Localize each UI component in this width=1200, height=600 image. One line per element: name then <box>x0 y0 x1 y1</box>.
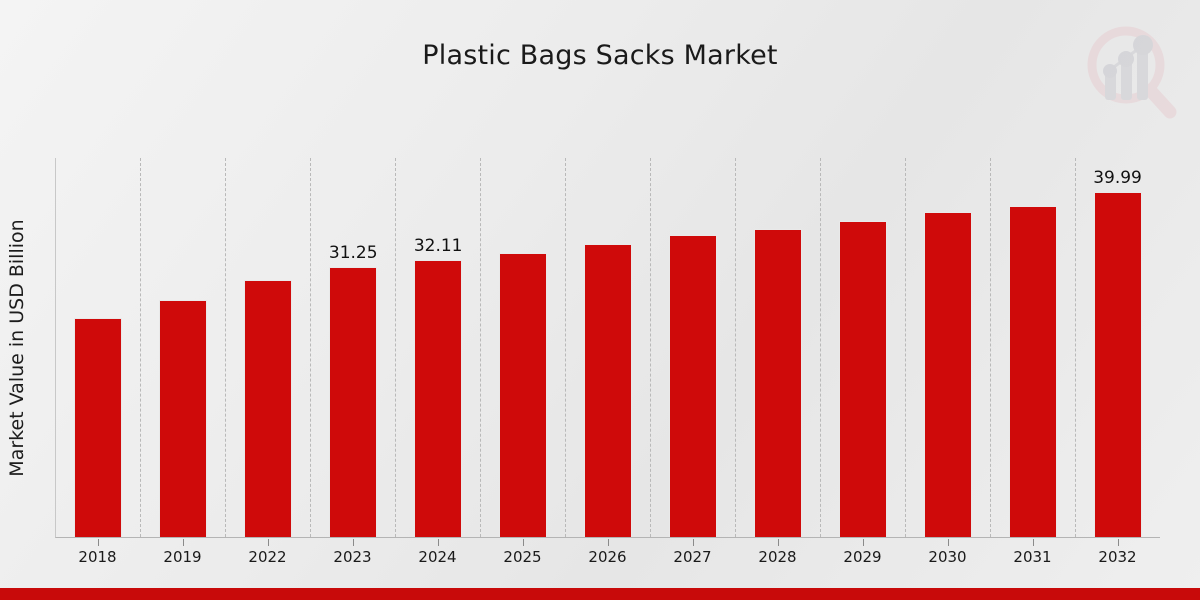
bar-2028[interactable] <box>754 229 802 537</box>
bar-2030[interactable] <box>924 212 972 537</box>
bar-2026[interactable] <box>584 244 632 537</box>
x-axis-slot: 2026 <box>565 539 650 573</box>
bar-slot <box>566 158 651 537</box>
bar-value-label: 39.99 <box>1075 168 1160 188</box>
x-axis-slot: 2019 <box>140 539 225 573</box>
x-axis-slot: 2032 <box>1075 539 1160 573</box>
x-axis-tick <box>353 539 354 546</box>
x-axis-tick <box>438 539 439 546</box>
x-axis-tick <box>1118 539 1119 546</box>
bar-2023[interactable] <box>329 267 377 537</box>
x-axis-slot: 2028 <box>735 539 820 573</box>
x-axis: 2018201920222023202420252026202720282029… <box>55 539 1160 573</box>
x-axis-slot: 2031 <box>990 539 1075 573</box>
x-axis-slot: 2025 <box>480 539 565 573</box>
x-axis-tick-label: 2025 <box>480 548 565 566</box>
plot-area: 31.2532.1139.99 <box>55 158 1160 538</box>
x-axis-tick-label: 2026 <box>565 548 650 566</box>
x-axis-tick <box>863 539 864 546</box>
bar-2031[interactable] <box>1009 206 1057 537</box>
chart-page: Plastic Bags Sacks Market Market Valu <box>0 0 1200 600</box>
bar-slot <box>56 158 141 537</box>
bar-slot <box>226 158 311 537</box>
x-axis-tick <box>183 539 184 546</box>
x-axis-tick-label: 2024 <box>395 548 480 566</box>
x-axis-tick-label: 2019 <box>140 548 225 566</box>
x-axis-tick <box>778 539 779 546</box>
bar-slot <box>141 158 226 537</box>
x-axis-tick <box>268 539 269 546</box>
bar-slot: 32.11 <box>396 158 481 537</box>
x-axis-tick-label: 2027 <box>650 548 735 566</box>
x-axis-slot: 2022 <box>225 539 310 573</box>
bar-2024[interactable] <box>414 260 462 537</box>
bar-slot <box>481 158 566 537</box>
page-title: Plastic Bags Sacks Market <box>0 40 1200 71</box>
x-axis-tick-label: 2022 <box>225 548 310 566</box>
bar-series: 31.2532.1139.99 <box>56 158 1160 537</box>
bar-slot <box>990 158 1075 537</box>
footer-band <box>0 588 1200 600</box>
bar-slot: 39.99 <box>1075 158 1160 537</box>
bar-slot <box>735 158 820 537</box>
x-axis-slot: 2024 <box>395 539 480 573</box>
x-axis-tick <box>948 539 949 546</box>
y-axis-label: Market Value in USD Billion <box>6 158 38 538</box>
x-axis-slot: 2030 <box>905 539 990 573</box>
bar-value-label: 31.25 <box>311 243 396 263</box>
bar-slot: 31.25 <box>311 158 396 537</box>
x-axis-tick-label: 2032 <box>1075 548 1160 566</box>
x-axis-slot: 2027 <box>650 539 735 573</box>
x-axis-tick <box>608 539 609 546</box>
y-axis-title-wrapper: Market Value in USD Billion <box>0 172 34 552</box>
x-axis-tick-label: 2029 <box>820 548 905 566</box>
x-axis-tick-label: 2018 <box>55 548 140 566</box>
x-axis-tick <box>523 539 524 546</box>
bar-value-label: 32.11 <box>396 236 481 256</box>
x-axis-tick <box>98 539 99 546</box>
bar-2029[interactable] <box>839 221 887 537</box>
x-axis-slot: 2023 <box>310 539 395 573</box>
x-axis-slot: 2029 <box>820 539 905 573</box>
bar-slot <box>905 158 990 537</box>
x-axis-tick-label: 2030 <box>905 548 990 566</box>
x-axis-tick-label: 2028 <box>735 548 820 566</box>
x-axis-tick <box>1033 539 1034 546</box>
watermark-logo <box>1078 20 1182 120</box>
x-axis-tick-label: 2031 <box>990 548 1075 566</box>
x-axis-tick-label: 2023 <box>310 548 395 566</box>
bar-2032[interactable] <box>1094 192 1142 537</box>
bar-2025[interactable] <box>499 253 547 537</box>
bar-2022[interactable] <box>244 280 292 537</box>
bar-2027[interactable] <box>669 235 717 537</box>
x-axis-slot: 2018 <box>55 539 140 573</box>
bar-slot <box>650 158 735 537</box>
x-axis-tick <box>693 539 694 546</box>
bar-2019[interactable] <box>159 300 207 537</box>
bar-2018[interactable] <box>74 318 122 537</box>
bar-slot <box>820 158 905 537</box>
